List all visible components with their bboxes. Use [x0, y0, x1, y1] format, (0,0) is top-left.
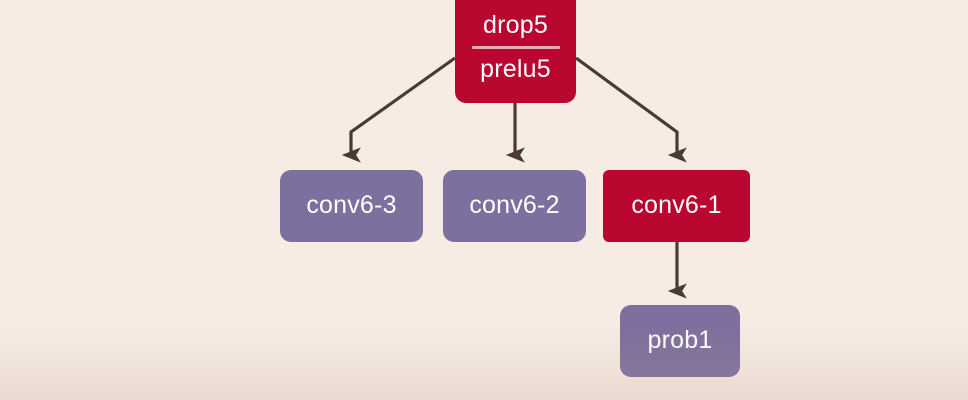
node-drop5-sublabel: prelu5: [480, 56, 551, 84]
node-drop5[interactable]: drop5 prelu5: [455, 0, 576, 103]
node-drop5-label: drop5: [483, 12, 548, 40]
node-conv6-1-label: conv6-1: [631, 192, 721, 220]
node-prob1-label: prob1: [648, 327, 713, 355]
node-conv6-2-label: conv6-2: [469, 192, 559, 220]
diagram-canvas: drop5 prelu5 conv6-3 conv6-2 conv6-1 pro…: [0, 0, 968, 400]
edge-drop5-to-conv6-1: [576, 58, 677, 155]
node-conv6-3[interactable]: conv6-3: [280, 170, 423, 242]
node-drop5-divider: [472, 46, 560, 49]
node-conv6-3-label: conv6-3: [306, 192, 396, 220]
node-prob1[interactable]: prob1: [620, 305, 740, 377]
node-conv6-1[interactable]: conv6-1: [603, 170, 750, 242]
edge-drop5-to-conv6-3: [351, 58, 455, 155]
node-conv6-2[interactable]: conv6-2: [443, 170, 586, 242]
